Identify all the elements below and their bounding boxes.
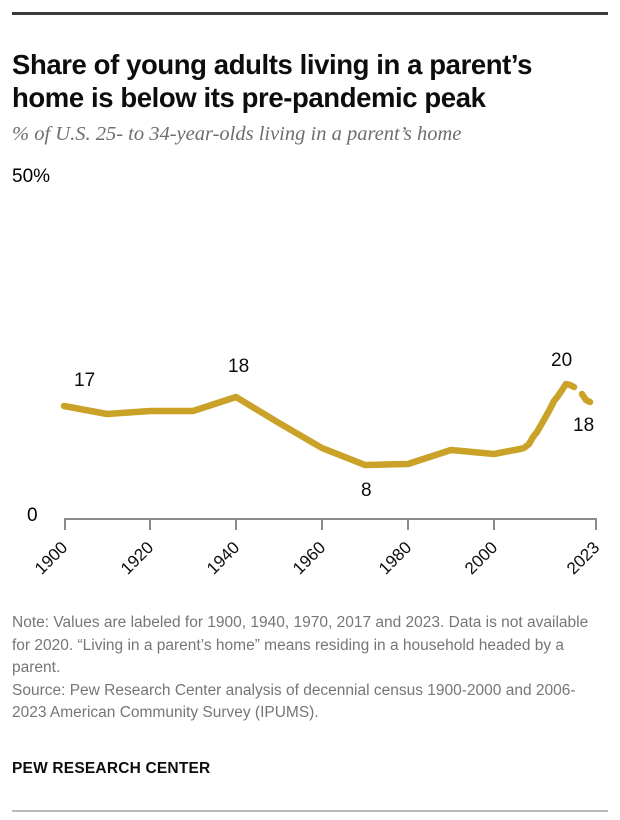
y-axis-max-label: 50% [12,166,50,188]
bottom-divider-rule [12,810,608,812]
source-text: Source: Pew Research Center analysis of … [12,680,604,725]
chart-page: Share of young adults living in a parent… [0,0,620,820]
value-label-1970: 8 [361,480,372,502]
line-chart: 50% 0 17 18 8 20 18 1900 1920 1940 19 [0,160,620,600]
value-label-2023: 18 [573,415,594,437]
value-label-1940: 18 [228,356,249,378]
chart-subtitle: % of U.S. 25- to 34-year-olds living in … [12,122,598,146]
line-series-post-gap [582,394,590,402]
y-axis-min-label: 0 [27,505,38,527]
line-series-main [64,384,574,465]
chart-plot-area [0,160,620,560]
value-label-1900: 17 [74,370,95,392]
page-title: Share of young adults living in a parent… [12,48,598,114]
footer-notes: Note: Values are labeled for 1900, 1940,… [12,612,604,725]
value-label-2017: 20 [551,350,572,372]
note-text: Note: Values are labeled for 1900, 1940,… [12,612,604,680]
top-divider-rule [12,12,608,15]
brand-label: PEW RESEARCH CENTER [12,760,210,778]
